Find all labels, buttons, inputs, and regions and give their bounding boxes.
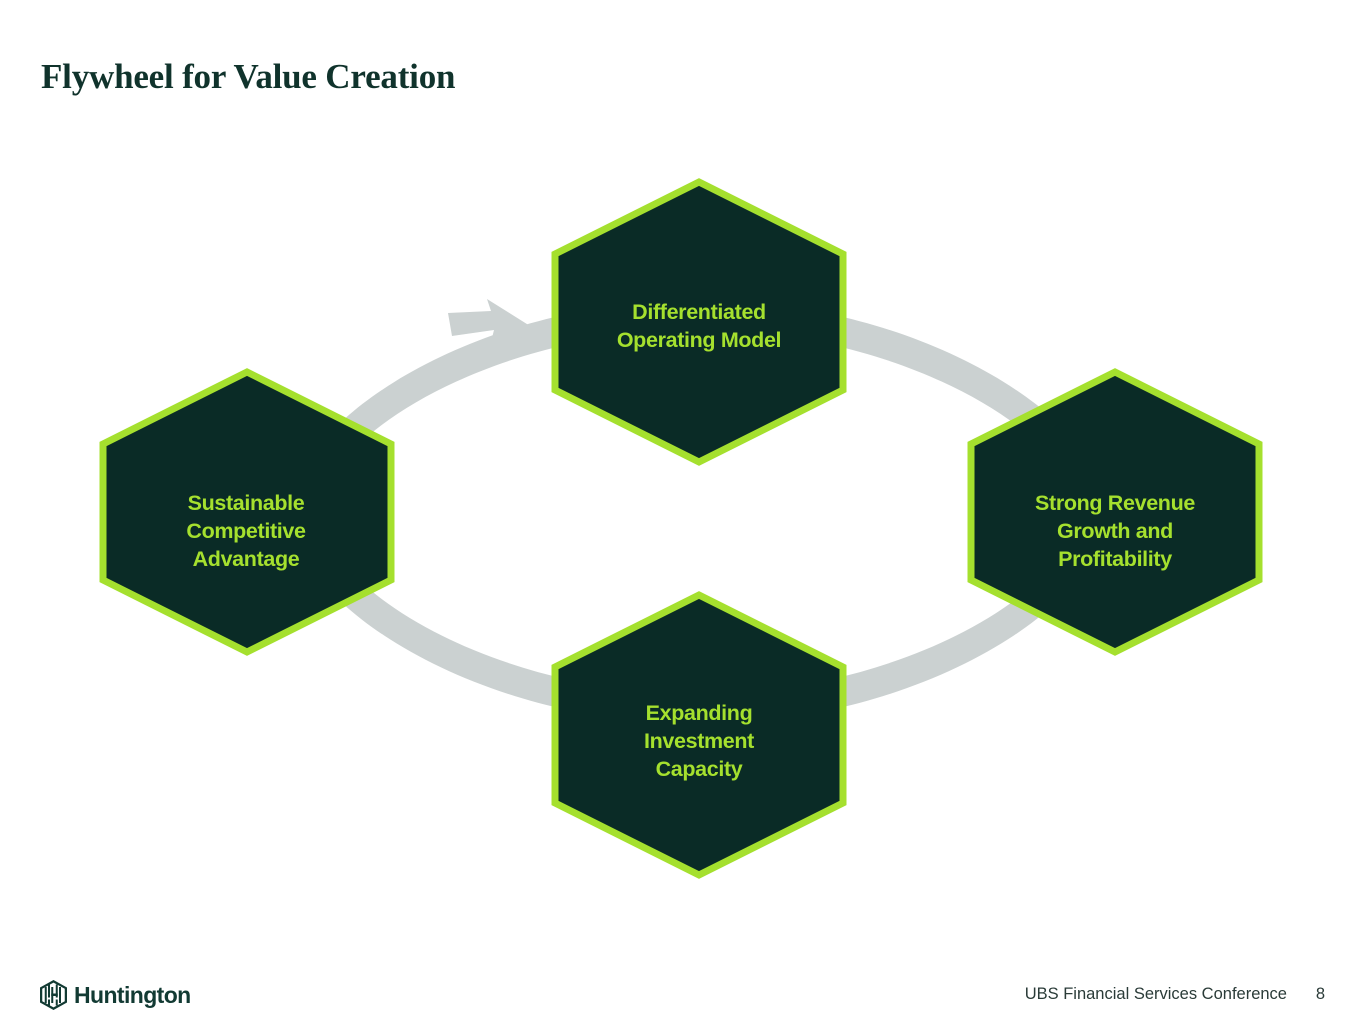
huntington-hexagon-logo-icon <box>40 980 67 1010</box>
hex-label-line: Growth and <box>1057 519 1173 543</box>
hex-label-line: Operating Model <box>617 328 781 352</box>
footer-meta: UBS Financial Services Conference 8 <box>1025 985 1325 1004</box>
hex-label-line: Investment <box>644 729 754 753</box>
hex-node-expanding-investment-capacity[interactable]: Expanding Investment Capacity <box>555 595 843 875</box>
conference-name: UBS Financial Services Conference <box>1025 985 1287 1004</box>
hex-label-line: Capacity <box>656 757 743 781</box>
brand-name: Huntington <box>74 984 191 1007</box>
hex-label-line: Competitive <box>186 519 306 543</box>
hex-label-line: Advantage <box>193 547 300 571</box>
slide-root: Flywheel for Value Creation Differentiat… <box>0 0 1365 1024</box>
hex-label-line: Profitability <box>1058 547 1172 571</box>
hex-label-line: Strong Revenue <box>1035 491 1195 515</box>
page-number: 8 <box>1315 985 1325 1004</box>
flywheel-diagram: Differentiated Operating Model Strong Re… <box>0 0 1365 1024</box>
hex-node-differentiated-operating-model[interactable]: Differentiated Operating Model <box>555 182 843 462</box>
hex-node-sustainable-competitive-advantage[interactable]: Sustainable Competitive Advantage <box>103 372 391 652</box>
brand-logo: Huntington <box>40 979 191 1011</box>
hex-label-line: Differentiated <box>632 300 766 324</box>
hex-label-line: Sustainable <box>188 491 305 515</box>
hex-label-line: Expanding <box>646 701 753 725</box>
